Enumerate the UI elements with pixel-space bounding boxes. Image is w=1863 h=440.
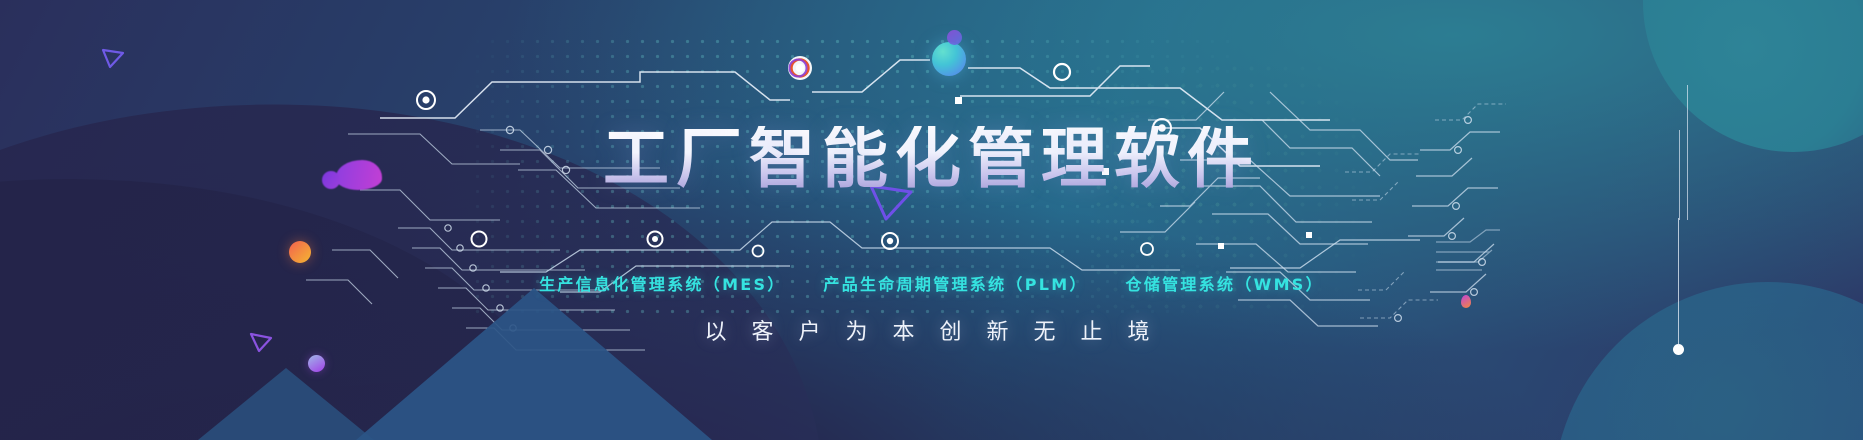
- colorful-ring-node-icon: [788, 56, 812, 80]
- subtitle-item-wms: 仓储管理系统（WMS）: [1126, 275, 1324, 294]
- subtitle-systems: 生产信息化管理系统（MES） 产品生命周期管理系统（PLM） 仓储管理系统（WM…: [0, 271, 1863, 295]
- gradient-sphere-icon: [932, 42, 966, 76]
- mountain-small-shape: [198, 368, 374, 440]
- subtitle-item-mes: 生产信息化管理系统（MES）: [539, 275, 786, 294]
- subtitle-item-plm: 产品生命周期管理系统（PLM）: [823, 275, 1087, 294]
- page-title: 工厂智能化管理软件: [0, 126, 1863, 192]
- hero-banner: 工厂智能化管理软件 生产信息化管理系统（MES） 产品生命周期管理系统（PLM）…: [0, 0, 1863, 440]
- purple-dot-icon: [308, 355, 325, 372]
- purple-triangle-outline-left-icon: [100, 46, 126, 70]
- orange-dot-icon: [289, 241, 311, 263]
- slogan-text: 以 客 户 为 本 创 新 无 止 境: [0, 314, 1863, 346]
- purple-sphere-small-icon: [947, 30, 962, 45]
- pink-dot-icon: [1461, 295, 1471, 308]
- mountain-large-shape: [356, 288, 712, 440]
